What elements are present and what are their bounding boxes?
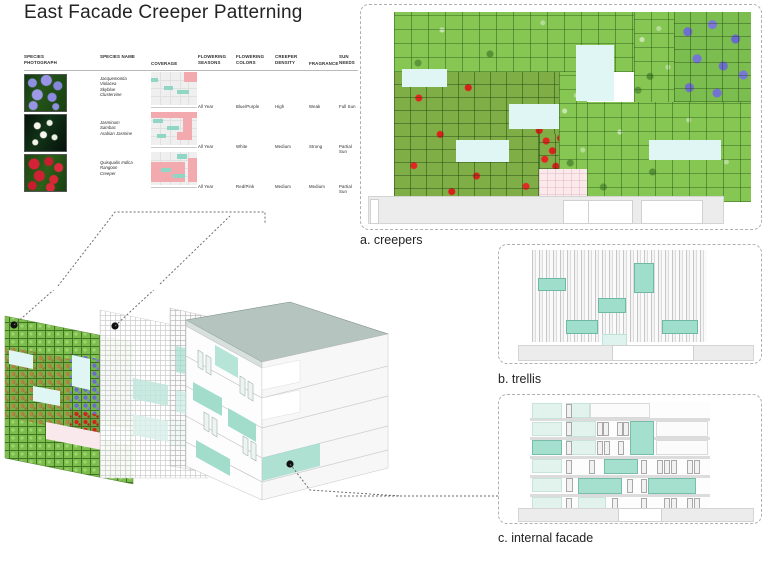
callout-connectors [0,0,780,562]
connector-trellis-upper [160,216,230,284]
connector-to-panel-a [58,212,265,286]
